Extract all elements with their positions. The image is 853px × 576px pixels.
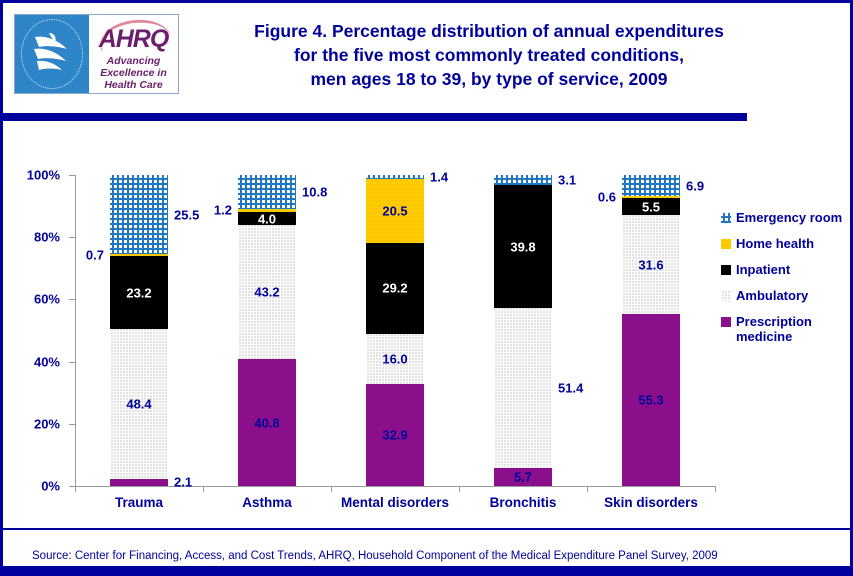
bar-segment: 25.5 [110, 175, 168, 254]
bar-segment: 10.8 [238, 175, 296, 209]
plot-area: 0%20%40%60%80%100% 25.50.723.248.42.110.… [75, 175, 715, 486]
bar-segment-value-label: 2.1 [174, 475, 192, 490]
bar-segment: 43.2 [238, 225, 296, 359]
bar-segment-value-label: 55.3 [622, 392, 680, 407]
bar-segment: 20.5 [366, 179, 424, 243]
bar-segment: 39.8 [494, 185, 552, 309]
bar-segment: 23.2 [110, 256, 168, 328]
legend-label: Prescription medicine [736, 314, 843, 344]
bar-segment-value-label: 25.5 [174, 207, 199, 222]
figure-header: AHRQ Advancing Excellence in Health Care… [3, 3, 850, 108]
x-axis-line [75, 486, 715, 487]
bar-segment: 51.4 [494, 308, 552, 468]
bar-segment-value-label: 43.2 [238, 284, 296, 299]
legend-item[interactable]: Ambulatory [721, 288, 843, 303]
y-axis-tick-label: 100% [27, 168, 60, 183]
bar-segment-value-label: 1.4 [430, 170, 448, 185]
bar-segment-value-label: 0.7 [86, 248, 104, 263]
figure-title-line-2: for the five most commonly treated condi… [189, 43, 789, 67]
figure-page: AHRQ Advancing Excellence in Health Care… [0, 0, 853, 576]
legend-swatch [721, 265, 731, 275]
legend-swatch [721, 239, 731, 249]
y-axis-tick: 100% [69, 175, 75, 176]
bar-segment: 16.0 [366, 334, 424, 384]
y-axis-tick: 20% [69, 424, 75, 425]
ahrq-tagline: Advancing Excellence in Health Care [89, 55, 178, 91]
y-axis-line [75, 175, 76, 486]
bar-segment: 40.8 [238, 359, 296, 486]
bar-segment-value-label: 40.8 [238, 415, 296, 430]
x-axis-tick [331, 486, 332, 492]
bar-segment: 2.1 [110, 479, 168, 486]
stacked-bar: 25.50.723.248.42.1 [110, 175, 168, 486]
legend-item[interactable]: Prescription medicine [721, 314, 843, 344]
bar-segment: 29.2 [366, 243, 424, 334]
legend-label: Emergency room [736, 210, 842, 225]
x-axis-tick [203, 486, 204, 492]
x-axis-category-label: Bronchitis [459, 495, 587, 510]
hhs-eagle-icon [29, 27, 75, 79]
ahrq-tagline-line-2: Excellence in [89, 67, 178, 79]
bar-segment-value-label: 31.6 [622, 257, 680, 272]
x-axis-tick [75, 486, 76, 492]
stacked-bar: 3.139.851.45.7 [494, 175, 552, 486]
y-axis-tick-label: 40% [34, 354, 60, 369]
bar-segment-value-label: 23.2 [110, 285, 168, 300]
y-axis-tick: 60% [69, 299, 75, 300]
bar-segment-value-label: 10.8 [302, 184, 327, 199]
footer-divider [3, 528, 850, 530]
y-axis-tick: 80% [69, 237, 75, 238]
chart-area: 0%20%40%60%80%100% 25.50.723.248.42.110.… [3, 128, 850, 518]
bar-segment-value-label: 1.2 [214, 203, 232, 218]
ahrq-tagline-line-3: Health Care [89, 79, 178, 91]
bar-segment: 32.9 [366, 384, 424, 486]
x-axis-category-label: Asthma [203, 495, 331, 510]
bar-segment: 5.5 [622, 198, 680, 215]
legend-item[interactable]: Home health [721, 236, 843, 251]
stacked-bar: 10.81.24.043.240.8 [238, 175, 296, 486]
ahrq-acronym: AHRQ [89, 27, 178, 52]
x-axis-category-label: Trauma [75, 495, 203, 510]
legend-item[interactable]: Inpatient [721, 262, 843, 277]
bar-segment-value-label: 16.0 [366, 351, 424, 366]
y-axis-tick-label: 80% [34, 230, 60, 245]
legend-swatch [721, 291, 731, 301]
bar-segment: 5.7 [494, 468, 552, 486]
bar-segment-value-label: 20.5 [366, 204, 424, 219]
legend-label: Ambulatory [736, 288, 808, 303]
figure-title: Figure 4. Percentage distribution of ann… [189, 19, 789, 91]
bar-segment: 3.1 [494, 175, 552, 185]
bar-segment-value-label: 6.9 [686, 178, 704, 193]
ahrq-wordmark: AHRQ Advancing Excellence in Health Care [89, 15, 178, 93]
stacked-bar: 6.90.65.531.655.3 [622, 175, 680, 486]
bar-segment-value-label: 5.5 [622, 199, 680, 214]
figure-title-line-3: men ages 18 to 39, by type of service, 2… [189, 67, 789, 91]
bar-segment: 31.6 [622, 215, 680, 313]
bar-segment-value-label: 39.8 [494, 239, 552, 254]
x-axis-tick [587, 486, 588, 492]
hhs-seal-icon [15, 15, 89, 93]
legend-swatch [721, 317, 731, 327]
x-axis-tick [715, 486, 716, 492]
x-axis-category-label: Skin disorders [587, 495, 715, 510]
bottom-band [3, 566, 850, 573]
bar-segment: 48.4 [110, 329, 168, 480]
bar-segment-value-label: 32.9 [366, 427, 424, 442]
ahrq-tagline-line-1: Advancing [89, 55, 178, 67]
x-axis-category-label: Mental disorders [331, 495, 459, 510]
bar-segment-value-label: 51.4 [558, 381, 583, 396]
y-axis-tick: 40% [69, 362, 75, 363]
y-axis-tick-label: 0% [41, 479, 60, 494]
bar-segment-value-label: 3.1 [558, 172, 576, 187]
bar-segment-value-label: 48.4 [110, 396, 168, 411]
legend-label: Home health [736, 236, 814, 251]
ahrq-logo: AHRQ Advancing Excellence in Health Care [14, 14, 179, 94]
x-axis-tick [459, 486, 460, 492]
source-note: Source: Center for Financing, Access, an… [32, 550, 718, 562]
bar-segment-value-label: 0.6 [598, 190, 616, 205]
legend-item[interactable]: Emergency room [721, 210, 843, 225]
header-divider [3, 113, 747, 121]
y-axis-tick-label: 60% [34, 292, 60, 307]
y-axis-tick-label: 20% [34, 416, 60, 431]
legend-swatch [721, 213, 731, 223]
bar-segment-value-label: 5.7 [494, 470, 552, 485]
figure-title-line-1: Figure 4. Percentage distribution of ann… [189, 19, 789, 43]
bar-segment: 6.9 [622, 175, 680, 196]
bar-segment: 4.0 [238, 212, 296, 224]
bar-segment: 55.3 [622, 314, 680, 486]
stacked-bar: 1.420.529.216.032.9 [366, 175, 424, 486]
bar-segment-value-label: 29.2 [366, 281, 424, 296]
legend-label: Inpatient [736, 262, 790, 277]
chart-legend: Emergency roomHome healthInpatientAmbula… [721, 210, 843, 355]
